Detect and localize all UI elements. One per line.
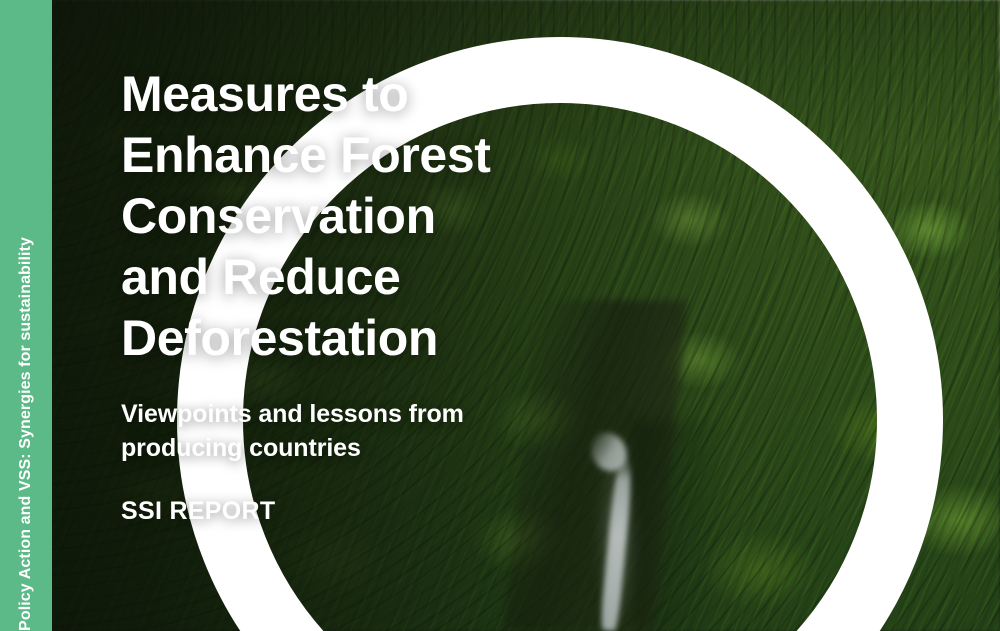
report-type-label: SSI REPORT [121, 497, 275, 526]
title-line-3: Conservation [121, 186, 491, 247]
title-line-5: Deforestation [121, 308, 491, 369]
spine-series-label: Policy Action and VSS: Synergies for sus… [0, 221, 52, 631]
subtitle-line-2: producing countries [121, 431, 541, 465]
page-title: Measures to Enhance Forest Conservation … [121, 64, 491, 369]
title-line-1: Measures to [121, 64, 491, 125]
report-cover: Policy Action and VSS: Synergies for sus… [0, 0, 1000, 631]
title-line-4: and Reduce [121, 247, 491, 308]
page-subtitle: Viewpoints and lessons from producing co… [121, 397, 541, 465]
cover-text-block: Measures to Enhance Forest Conservation … [121, 0, 661, 631]
subtitle-line-1: Viewpoints and lessons from [121, 397, 541, 431]
green-spine-bar: Policy Action and VSS: Synergies for sus… [0, 0, 52, 631]
title-line-2: Enhance Forest [121, 125, 491, 186]
